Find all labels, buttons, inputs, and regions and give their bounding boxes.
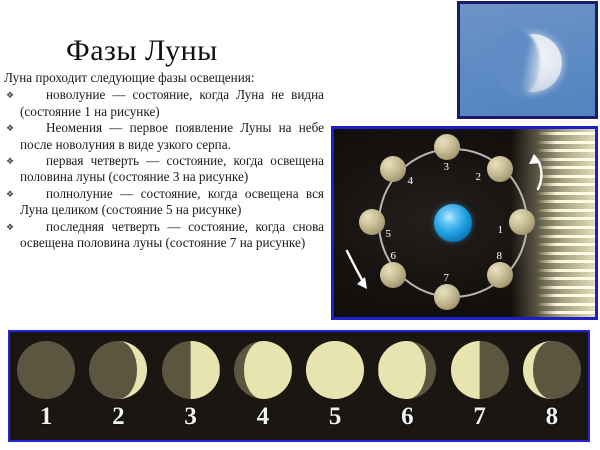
phase-disc-6 — [378, 341, 436, 399]
moon-terminator-shadow — [494, 30, 540, 96]
list-item-text: полнолуние — состояние, когда освещена в… — [20, 186, 324, 217]
moon-phase-strip: 12345678 — [8, 330, 590, 442]
phase-number-label: 8 — [518, 403, 586, 431]
phase-disc-3 — [162, 341, 220, 399]
direction-arrow-top-icon — [516, 149, 550, 193]
phase-lit-region — [162, 341, 220, 399]
phase-number-label: 5 — [301, 403, 369, 431]
phase-number-label: 2 — [84, 403, 152, 431]
phase-number-label: 6 — [373, 403, 441, 431]
phase-cell: 5 — [301, 341, 369, 431]
phase-terminator — [100, 341, 137, 399]
phase-terminator — [389, 341, 426, 399]
phase-terminator — [533, 341, 570, 399]
list-item: ❖ первая четверть — состояние, когда осв… — [4, 153, 324, 186]
orbit-diagram: 12345678 — [331, 126, 598, 320]
orbit-moon-label: 1 — [498, 224, 504, 236]
phase-number-label: 1 — [12, 403, 80, 431]
list-item-text: Неомения — первое появление Луны на небе… — [20, 120, 324, 151]
phase-disc-8 — [523, 341, 581, 399]
sun-ray — [537, 243, 595, 246]
bullet-icon: ❖ — [6, 88, 14, 104]
orbit-moon-3 — [434, 134, 460, 160]
list-item: ❖ последняя четверть — состояние, когда … — [4, 219, 324, 252]
phase-disc-5 — [306, 341, 364, 399]
sun-ray — [537, 303, 595, 306]
bullet-icon: ❖ — [6, 187, 14, 203]
phase-cell: 2 — [84, 341, 152, 431]
moon-photograph — [457, 1, 598, 119]
phase-row: 12345678 — [10, 332, 588, 440]
sun-ray — [537, 294, 595, 297]
bullet-icon: ❖ — [6, 220, 14, 236]
phase-definition-list: ❖ новолуние — состояние, когда Луна не в… — [4, 87, 324, 251]
sun-ray — [537, 226, 595, 229]
orbit-moon-label: 3 — [444, 161, 450, 173]
phase-number-label: 3 — [157, 403, 225, 431]
sun-ray — [537, 235, 595, 238]
phase-number-label: 7 — [446, 403, 514, 431]
phase-disc-7 — [451, 341, 509, 399]
list-item-text: последняя четверть — состояние, когда сн… — [20, 219, 324, 250]
phase-disc-2 — [89, 341, 147, 399]
sun-ray — [537, 311, 595, 314]
sun-ray — [537, 209, 595, 212]
orbit-moon-5 — [359, 209, 385, 235]
phase-cell: 3 — [157, 341, 225, 431]
bullet-icon: ❖ — [6, 121, 14, 137]
orbit-moon-2 — [487, 156, 513, 182]
orbit-moon-1 — [509, 209, 535, 235]
phase-cell: 6 — [373, 341, 441, 431]
list-item-text: новолуние — состояние, когда Луна не вид… — [20, 87, 324, 118]
sun-ray — [537, 217, 595, 220]
phase-cell: 7 — [446, 341, 514, 431]
orbit-moon-label: 6 — [390, 250, 396, 262]
phase-disc-4 — [234, 341, 292, 399]
lead-paragraph: Луна проходит следующие фазы освещения: — [4, 70, 324, 86]
orbit-moon-label: 8 — [497, 250, 503, 262]
direction-arrow-bottom-icon — [339, 247, 373, 293]
phase-disc-1 — [17, 341, 75, 399]
phase-lit-region — [306, 341, 364, 399]
phase-cell: 1 — [12, 341, 80, 431]
phase-cell: 4 — [229, 341, 297, 431]
sun-ray — [537, 269, 595, 272]
phase-cell: 8 — [518, 341, 586, 431]
body-text-block: Луна проходит следующие фазы освещения: … — [4, 70, 324, 251]
sun-ray — [537, 141, 595, 144]
sun-ray — [537, 277, 595, 280]
page-title: Фазы Луны — [66, 34, 218, 68]
orbit-moon-label: 7 — [444, 272, 450, 284]
sun-ray — [537, 200, 595, 203]
orbit-moon-label: 5 — [386, 228, 392, 240]
earth-sphere — [434, 204, 472, 242]
orbit-moon-7 — [434, 284, 460, 310]
sun-ray — [537, 260, 595, 263]
phase-number-label: 4 — [229, 403, 297, 431]
list-item-text: первая четверть — состояние, когда освещ… — [20, 153, 324, 184]
orbit-moon-label: 2 — [476, 171, 482, 183]
phase-lit-region — [451, 341, 509, 399]
list-item: ❖ полнолуние — состояние, когда освещена… — [4, 186, 324, 219]
sun-ray — [537, 286, 595, 289]
list-item: ❖ Неомения — первое появление Луны на не… — [4, 120, 324, 153]
bullet-icon: ❖ — [6, 154, 14, 170]
orbit-moon-8 — [487, 262, 513, 288]
sun-ray — [537, 252, 595, 255]
list-item: ❖ новолуние — состояние, когда Луна не в… — [4, 87, 324, 120]
orbit-moon-label: 4 — [407, 175, 413, 187]
sun-ray — [537, 132, 595, 135]
